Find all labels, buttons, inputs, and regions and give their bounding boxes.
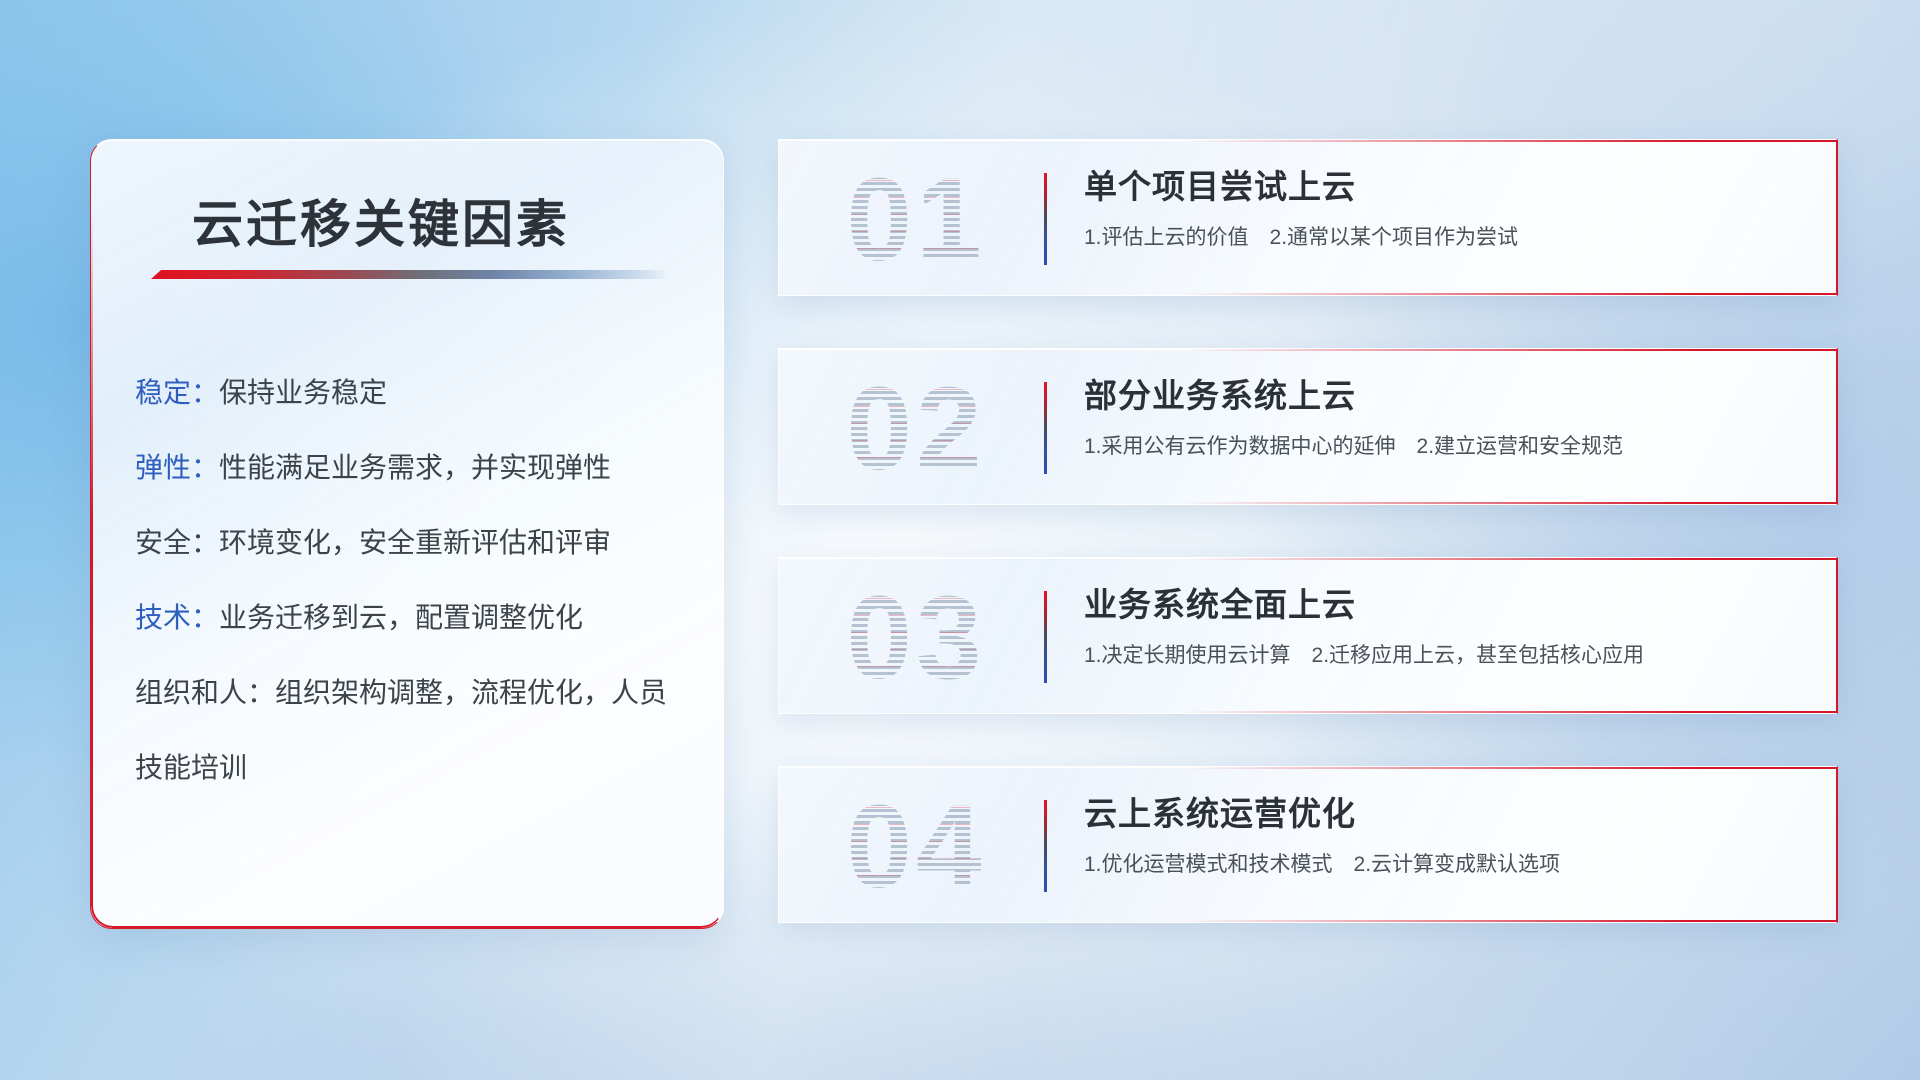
title-underline-rule [151, 270, 671, 279]
factor-text: 环境变化，安全重新评估和评审 [219, 527, 611, 558]
factor-list: 稳定：保持业务稳定 弹性：性能满足业务需求，并实现弹性 安全：环境变化，安全重新… [135, 355, 689, 805]
step-body: 单个项目尝试上云 1.评估上云的价值 2.通常以某个项目作为尝试 [1084, 162, 1812, 253]
step-card-01[interactable]: 01 01 单个项目尝试上云 1.评估上云的价值 2.通常以某个项目作为尝试 [778, 139, 1838, 296]
factor-label: 组织和人： [135, 677, 275, 708]
factor-text: 性能满足业务需求，并实现弹性 [219, 452, 611, 483]
factor-label: 稳定： [135, 377, 219, 408]
step-title: 单个项目尝试上云 [1084, 162, 1812, 211]
step-number-watermark: 02 [807, 355, 1025, 503]
factor-item-stability: 稳定：保持业务稳定 [135, 355, 689, 430]
migration-steps-list: 01 01 单个项目尝试上云 1.评估上云的价值 2.通常以某个项目作为尝试 0… [778, 139, 1838, 975]
step-divider-bar [1044, 173, 1047, 265]
factor-text: 业务迁移到云，配置调整优化 [219, 602, 583, 633]
step-description: 1.决定长期使用云计算 2.迁移应用上云，甚至包括核心应用 [1084, 641, 1812, 671]
factor-item-technology: 技术：业务迁移到云，配置调整优化 [135, 580, 689, 655]
step-card-04[interactable]: 04 04 云上系统运营优化 1.优化运营模式和技术模式 2.云计算变成默认选项 [778, 766, 1838, 923]
step-divider-bar [1044, 382, 1047, 474]
step-number-watermark-red: 01 [807, 146, 1025, 294]
step-title: 云上系统运营优化 [1084, 789, 1812, 838]
step-card-03[interactable]: 03 03 业务系统全面上云 1.决定长期使用云计算 2.迁移应用上云，甚至包括… [778, 557, 1838, 714]
factor-text: 保持业务稳定 [219, 377, 387, 408]
step-card-02[interactable]: 02 02 部分业务系统上云 1.采用公有云作为数据中心的延伸 2.建立运营和安… [778, 348, 1838, 505]
page-title: 云迁移关键因素 [192, 183, 570, 257]
step-number-watermark-red: 04 [807, 773, 1025, 921]
factor-item-security: 安全：环境变化，安全重新评估和评审 [135, 505, 689, 580]
step-number-watermark-red: 02 [807, 355, 1025, 503]
factor-item-elasticity: 弹性：性能满足业务需求，并实现弹性 [135, 430, 689, 505]
step-number-watermark: 01 [807, 146, 1025, 294]
key-factors-panel: 云迁移关键因素 稳定：保持业务稳定 弹性：性能满足业务需求，并实现弹性 安全：环… [90, 139, 724, 929]
step-description: 1.评估上云的价值 2.通常以某个项目作为尝试 [1084, 223, 1812, 253]
step-title: 业务系统全面上云 [1084, 580, 1812, 629]
step-title: 部分业务系统上云 [1084, 371, 1812, 420]
step-body: 云上系统运营优化 1.优化运营模式和技术模式 2.云计算变成默认选项 [1084, 789, 1812, 880]
slide-canvas: 云迁移关键因素 稳定：保持业务稳定 弹性：性能满足业务需求，并实现弹性 安全：环… [0, 0, 1920, 1080]
step-body: 部分业务系统上云 1.采用公有云作为数据中心的延伸 2.建立运营和安全规范 [1084, 371, 1812, 462]
step-number-watermark-red: 03 [807, 564, 1025, 712]
step-body: 业务系统全面上云 1.决定长期使用云计算 2.迁移应用上云，甚至包括核心应用 [1084, 580, 1812, 671]
factor-label: 安全： [135, 527, 219, 558]
factor-label: 弹性： [135, 452, 219, 483]
factor-label: 技术： [135, 602, 219, 633]
step-number-watermark: 04 [807, 773, 1025, 921]
step-description: 1.采用公有云作为数据中心的延伸 2.建立运营和安全规范 [1084, 432, 1812, 462]
step-divider-bar [1044, 800, 1047, 892]
factor-item-organization-and-people: 组织和人：组织架构调整，流程优化，人员技能培训 [135, 655, 689, 805]
step-description: 1.优化运营模式和技术模式 2.云计算变成默认选项 [1084, 850, 1812, 880]
step-number-watermark: 03 [807, 564, 1025, 712]
step-divider-bar [1044, 591, 1047, 683]
